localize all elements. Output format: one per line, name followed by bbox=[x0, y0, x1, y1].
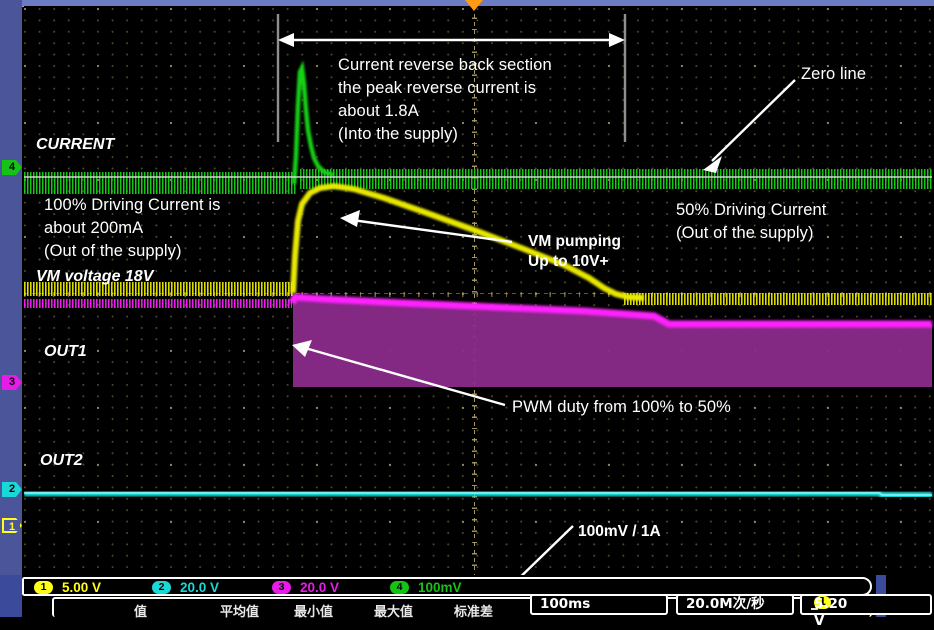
trace-label-out2: OUT2 bbox=[40, 452, 83, 470]
annotation-vm-pumping: VM pumping Up to 10V+ bbox=[528, 232, 621, 272]
current-reverse-spike bbox=[294, 68, 334, 184]
annotation-scale-note: 100mV / 1A bbox=[578, 522, 661, 542]
chip-channel-3[interactable]: 3 bbox=[272, 581, 291, 594]
out1-grass-left bbox=[24, 299, 292, 308]
left-rail bbox=[0, 0, 22, 595]
chip-channel-1[interactable]: 1 bbox=[34, 581, 53, 594]
scale-channel-3[interactable]: 20.0 V bbox=[300, 580, 339, 595]
measure-header-max: 最大值 bbox=[374, 601, 413, 620]
trace-label-current: CURRENT bbox=[36, 136, 114, 154]
trigger-position-marker[interactable] bbox=[465, 0, 483, 11]
bottom-status-area: 1 5.00 V 2 20.0 V 3 20.0 V 4 100mV 值 平均值… bbox=[0, 575, 934, 617]
annotation-driving-100: 100% Driving Current is about 200mA (Out… bbox=[44, 194, 221, 263]
trigger-readout[interactable]: 1 5.20 V bbox=[800, 594, 932, 615]
trigger-level-value: 5.20 V bbox=[814, 596, 847, 630]
samplerate-value: 20.0M次/秒 bbox=[686, 596, 765, 613]
scale-channel-2[interactable]: 20.0 V bbox=[180, 580, 219, 595]
measure-header-average: 平均值 bbox=[220, 601, 259, 620]
oscilloscope-screenshot: 4 3 2 1 CURRENT VM voltage 18V OUT1 OUT2… bbox=[0, 0, 934, 617]
trace-label-out1: OUT1 bbox=[44, 343, 87, 361]
chip-channel-4[interactable]: 4 bbox=[390, 581, 409, 594]
annotation-reverse-section: Current reverse back section the peak re… bbox=[338, 54, 552, 146]
trace-label-vm-voltage: VM voltage 18V bbox=[36, 268, 153, 286]
measure-header-min: 最小值 bbox=[294, 601, 333, 620]
measure-header-stddev: 标准差 bbox=[454, 601, 493, 620]
annotation-driving-50: 50% Driving Current (Out of the supply) bbox=[676, 199, 826, 245]
timebase-value: 100ms bbox=[540, 596, 590, 613]
scale-channel-1[interactable]: 5.00 V bbox=[62, 580, 101, 595]
samplerate-readout[interactable]: 20.0M次/秒 bbox=[676, 594, 794, 615]
measure-header-value: 值 bbox=[134, 601, 147, 620]
bottom-blue-left bbox=[0, 575, 22, 617]
annotation-pwm-duty: PWM duty from 100% to 50% bbox=[512, 396, 731, 419]
scale-channel-4[interactable]: 100mV bbox=[418, 580, 462, 595]
annotation-zero-line: Zero line bbox=[801, 63, 866, 86]
timebase-readout[interactable]: 100ms bbox=[530, 594, 668, 615]
chip-channel-2[interactable]: 2 bbox=[152, 581, 171, 594]
